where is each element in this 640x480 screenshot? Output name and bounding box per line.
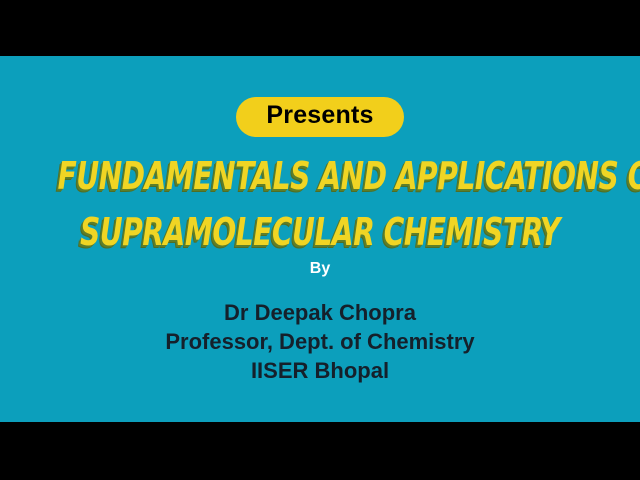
title-line-2: SUPRAMOLECULAR CHEMISTRY — [58, 204, 583, 260]
presenter-name: Dr Deepak Chopra — [0, 298, 640, 327]
title-line-1: FUNDAMENTALS AND APPLICATIONS OF — [58, 148, 583, 204]
letterbox-bar-bottom — [0, 422, 640, 480]
presents-badge-label: Presents — [236, 97, 403, 137]
letterbox-bar-top — [0, 0, 640, 56]
title-slide: Presents FUNDAMENTALS AND APPLICATIONS O… — [0, 56, 640, 422]
byline-label: By — [0, 259, 640, 279]
video-frame: Presents FUNDAMENTALS AND APPLICATIONS O… — [0, 0, 640, 480]
presenter-institution: IISER Bhopal — [0, 356, 640, 385]
presents-badge: Presents — [0, 97, 640, 137]
page-title: FUNDAMENTALS AND APPLICATIONS OF SUPRAMO… — [0, 148, 640, 260]
presenter-details: Dr Deepak Chopra Professor, Dept. of Che… — [0, 298, 640, 385]
presenter-affiliation: Professor, Dept. of Chemistry — [0, 327, 640, 356]
